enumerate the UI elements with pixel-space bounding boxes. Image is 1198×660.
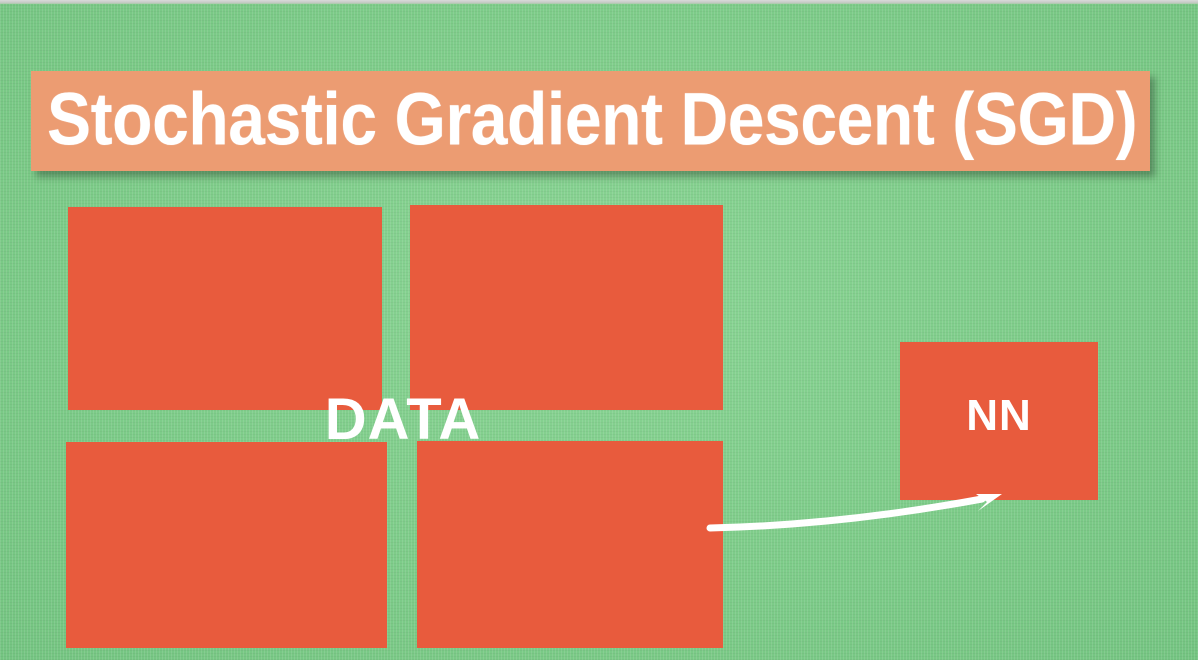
slide-canvas: Stochastic Gradient Descent (SGD) DATA N… xyxy=(0,0,1198,660)
title-banner: Stochastic Gradient Descent (SGD) xyxy=(31,71,1150,171)
data-block-bottom-right xyxy=(417,441,723,648)
page-title: Stochastic Gradient Descent (SGD) xyxy=(47,83,1020,157)
data-block-top-right xyxy=(410,205,723,410)
nn-block: NN xyxy=(900,342,1098,500)
top-edge-strip xyxy=(0,0,1198,4)
data-label: DATA xyxy=(313,390,493,450)
data-block-top-left xyxy=(68,207,382,410)
nn-label: NN xyxy=(900,394,1098,438)
data-block-bottom-left xyxy=(66,442,387,648)
